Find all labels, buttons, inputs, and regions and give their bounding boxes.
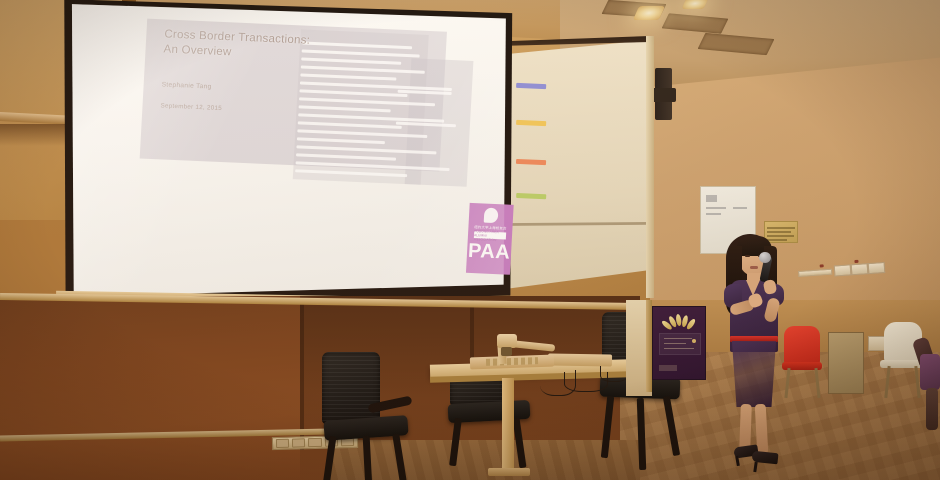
table-leg [502,378,514,474]
event-banner [652,306,706,380]
eye [745,255,750,257]
chair-leg [363,436,373,480]
banner-line [664,338,692,339]
banner-line [664,348,694,349]
paa-emblem-icon [484,208,499,224]
chair-leg [449,418,462,466]
wall-panel-seam [300,300,304,450]
bag [920,354,940,390]
power-socket[interactable] [292,438,305,447]
slide-accent-bar-green [516,193,546,199]
document-camera-tray [548,353,612,366]
banner-dot [692,339,696,343]
shoe-heel [753,462,757,472]
table-foot [488,468,530,476]
leg [926,388,938,430]
chair-leg [513,418,527,468]
secondary-screen-edge [646,36,654,298]
presentation-slide: Cross Border Transactions: An Overview S… [117,4,570,309]
flower-emblem-icon [669,315,691,329]
light-switch[interactable] [834,264,852,276]
cable [600,366,628,382]
whiteboard-mark [706,195,717,202]
banner-line [664,343,686,344]
chair-leg [601,396,614,458]
microphone-head-icon [759,252,771,263]
switch-indicator [820,264,824,267]
light-switch[interactable] [851,263,869,275]
mouth [750,266,758,269]
presenter [714,228,800,480]
power-socket[interactable] [276,439,289,448]
office-chair[interactable] [436,372,540,480]
banner-footer [659,365,677,371]
whiteboard-mark [706,207,726,209]
paa-logo-acronym: PAA [467,241,510,263]
background-person [916,336,940,432]
chair-back-mesh [322,352,380,424]
chair-leg [392,434,406,480]
dress-skirt [731,341,777,407]
main-projection-screen: Cross Border Transactions: An Overview S… [62,0,514,308]
chair-leg [637,398,647,470]
switch-indicator [854,260,858,263]
banner-text-box [659,333,701,355]
conference-room-photo: Cross Border Transactions: An Overview S… [0,0,940,480]
document-camera-lens-icon [501,347,512,356]
paa-logo-strip: PUDONG AREA ALUMNI ASSOCIATION [474,231,506,239]
whiteboard-mark [733,207,747,209]
office-chair[interactable] [310,352,418,480]
switch-rail [798,269,832,277]
chair-leg [323,436,337,480]
chair-leg [663,396,680,456]
paa-logo: 纽约大学上海校友会 PUDONG AREA ALUMNI ASSOCIATION… [466,203,514,275]
leaning-board [828,332,864,394]
whiteboard-mark [706,213,721,215]
light-switch[interactable] [868,262,886,274]
document-camera-head [497,334,517,348]
